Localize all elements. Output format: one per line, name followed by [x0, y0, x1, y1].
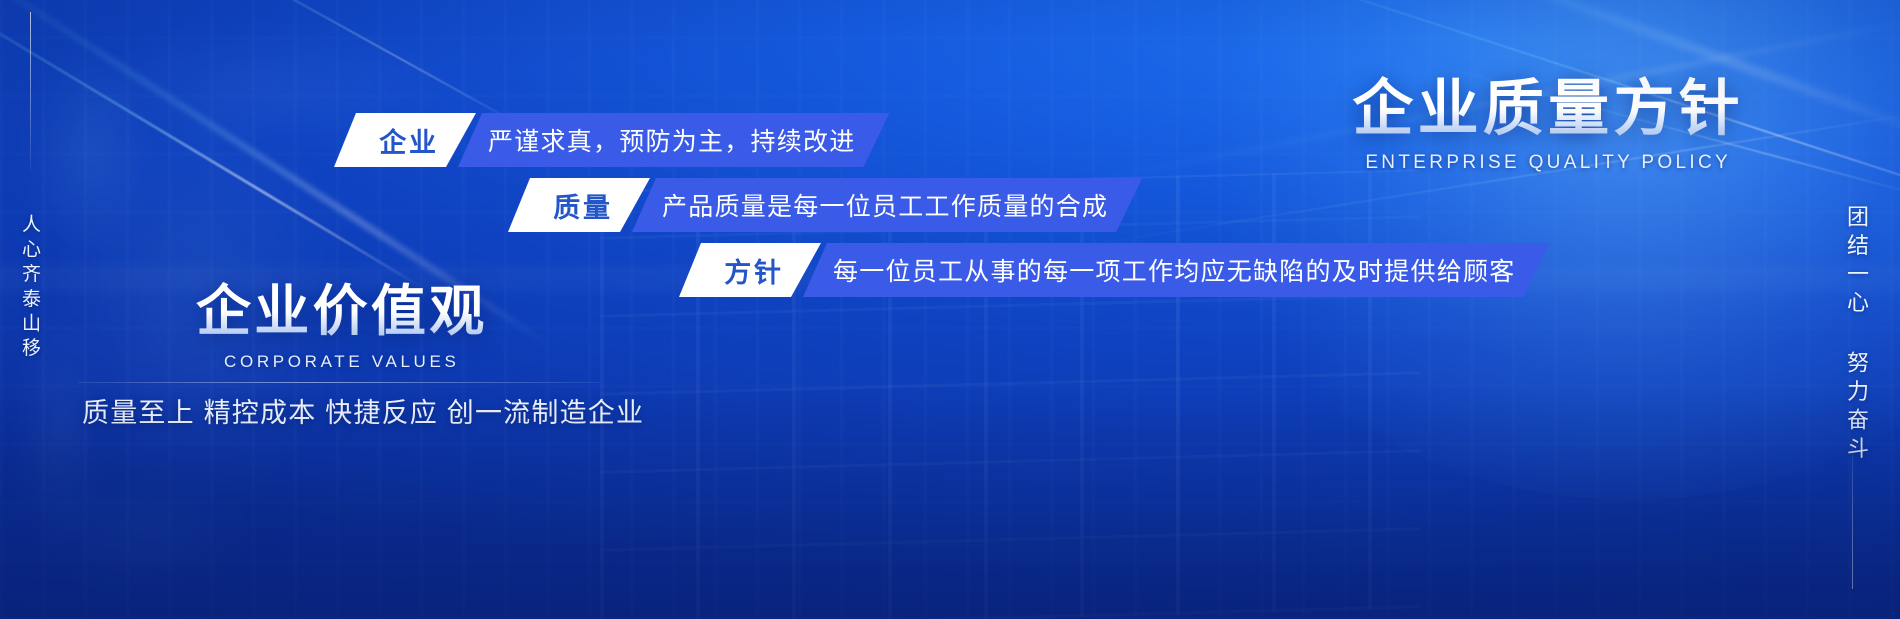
policy-row: 企业 严谨求真，预防为主，持续改进	[334, 113, 890, 167]
banner-stage: 人心齐泰山移 团结一心 努力奋斗 企业质量方针 ENTERPRISE QUALI…	[0, 0, 1900, 619]
values-title-en: CORPORATE VALUES	[196, 352, 488, 372]
policy-row: 质量 产品质量是每一位员工工作质量的合成	[508, 178, 1142, 232]
policy-row-tag-label: 企业	[379, 121, 438, 160]
values-divider	[78, 382, 600, 383]
values-title-cn: 企业价值观	[196, 282, 488, 341]
policy-row-tag: 方针	[679, 243, 821, 297]
policy-row-bar: 严谨求真，预防为主，持续改进	[458, 113, 890, 167]
values-slogan: 质量至上 精控成本 快捷反应 创一流制造企业	[82, 391, 644, 430]
tag-notch-icon	[538, 232, 560, 245]
tag-notch-icon	[709, 297, 731, 310]
tag-notch-icon	[364, 167, 386, 180]
policy-row-tag: 企业	[334, 113, 476, 167]
policy-row-bar: 产品质量是每一位员工工作质量的合成	[632, 178, 1142, 232]
policy-row-tag-label: 方针	[724, 251, 783, 290]
policy-row-bar: 每一位员工从事的每一项工作均应无缺陷的及时提供给顾客	[803, 243, 1550, 297]
policy-row-text: 每一位员工从事的每一项工作均应无缺陷的及时提供给顾客	[833, 252, 1516, 288]
bar-notch-icon	[1464, 297, 1488, 309]
policy-row-tag-label: 质量	[553, 186, 612, 225]
policy-row: 方针 每一位员工从事的每一项工作均应无缺陷的及时提供给顾客	[679, 243, 1550, 297]
policy-row-text: 严谨求真，预防为主，持续改进	[488, 122, 856, 158]
policy-row-text: 产品质量是每一位员工工作质量的合成	[662, 187, 1108, 223]
policy-row-tag: 质量	[508, 178, 650, 232]
values-heading: 企业价值观 CORPORATE VALUES	[196, 282, 488, 372]
